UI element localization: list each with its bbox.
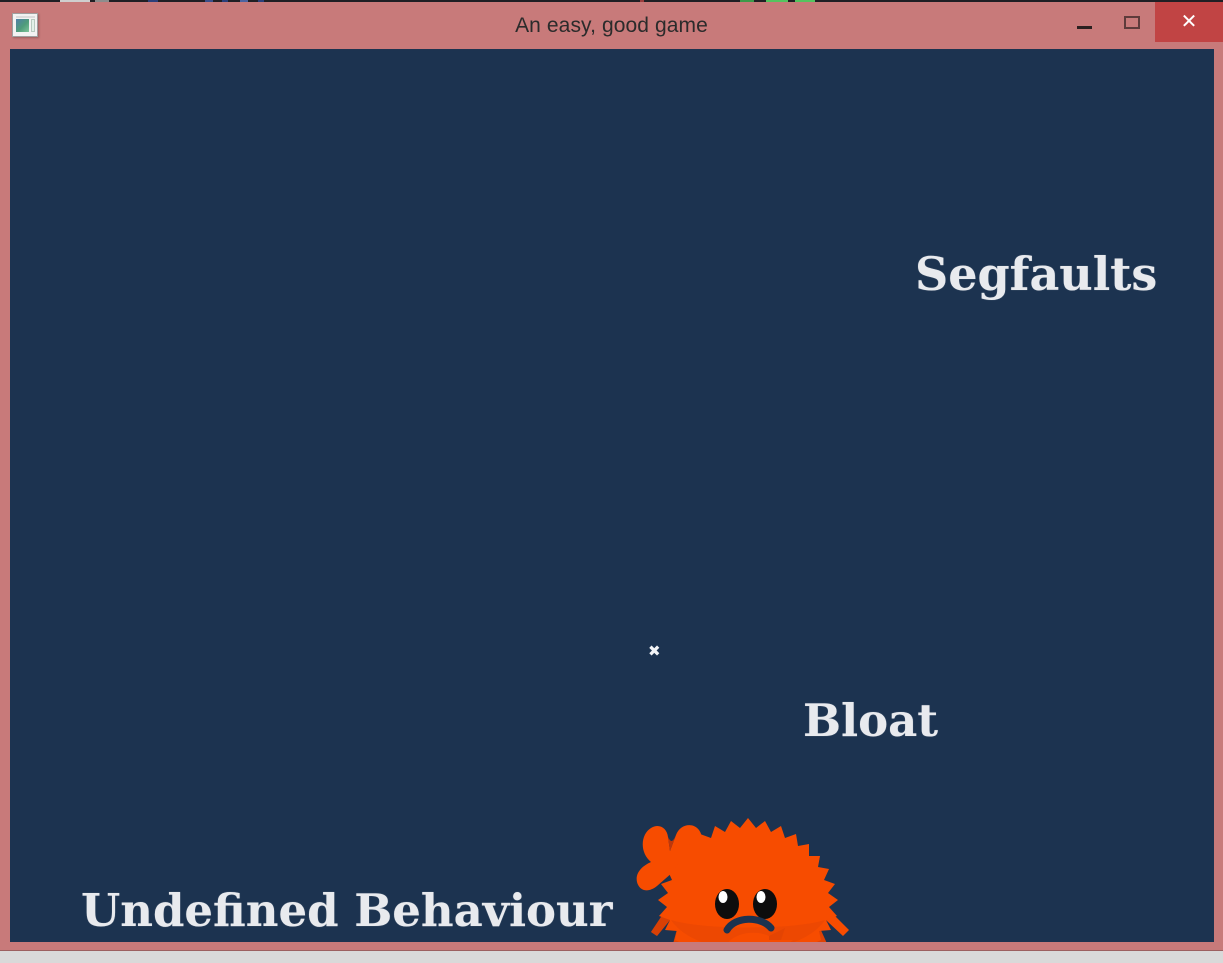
falling-word: Segfaults bbox=[915, 247, 1157, 301]
window-title: An easy, good game bbox=[0, 14, 1223, 38]
falling-word: Undefined Behaviour bbox=[81, 884, 612, 937]
game-window[interactable]: An easy, good game ✕ Segfaults Bloat Und… bbox=[0, 2, 1223, 951]
maximize-icon bbox=[1124, 16, 1140, 29]
icon-picture bbox=[16, 19, 29, 32]
icon-sidebar bbox=[31, 19, 35, 32]
close-icon: ✕ bbox=[1181, 12, 1198, 32]
maximize-button[interactable] bbox=[1108, 2, 1155, 42]
window-controls: ✕ bbox=[1061, 2, 1223, 42]
icon-titlebar-strip bbox=[16, 16, 35, 18]
desktop-background: An easy, good game ✕ Segfaults Bloat Und… bbox=[0, 0, 1223, 963]
title-bar[interactable]: An easy, good game ✕ bbox=[0, 2, 1223, 49]
minimize-button[interactable] bbox=[1061, 2, 1108, 42]
game-canvas[interactable]: Segfaults Bloat Undefined Behaviour ✖ bbox=[10, 49, 1214, 942]
close-button[interactable]: ✕ bbox=[1155, 2, 1223, 42]
falling-word: Bloat bbox=[803, 694, 938, 747]
particle-marker: ✖ bbox=[648, 645, 660, 657]
minimize-icon bbox=[1077, 26, 1092, 29]
app-window-icon bbox=[12, 13, 38, 37]
ferris-crab-mascot bbox=[623, 804, 873, 942]
